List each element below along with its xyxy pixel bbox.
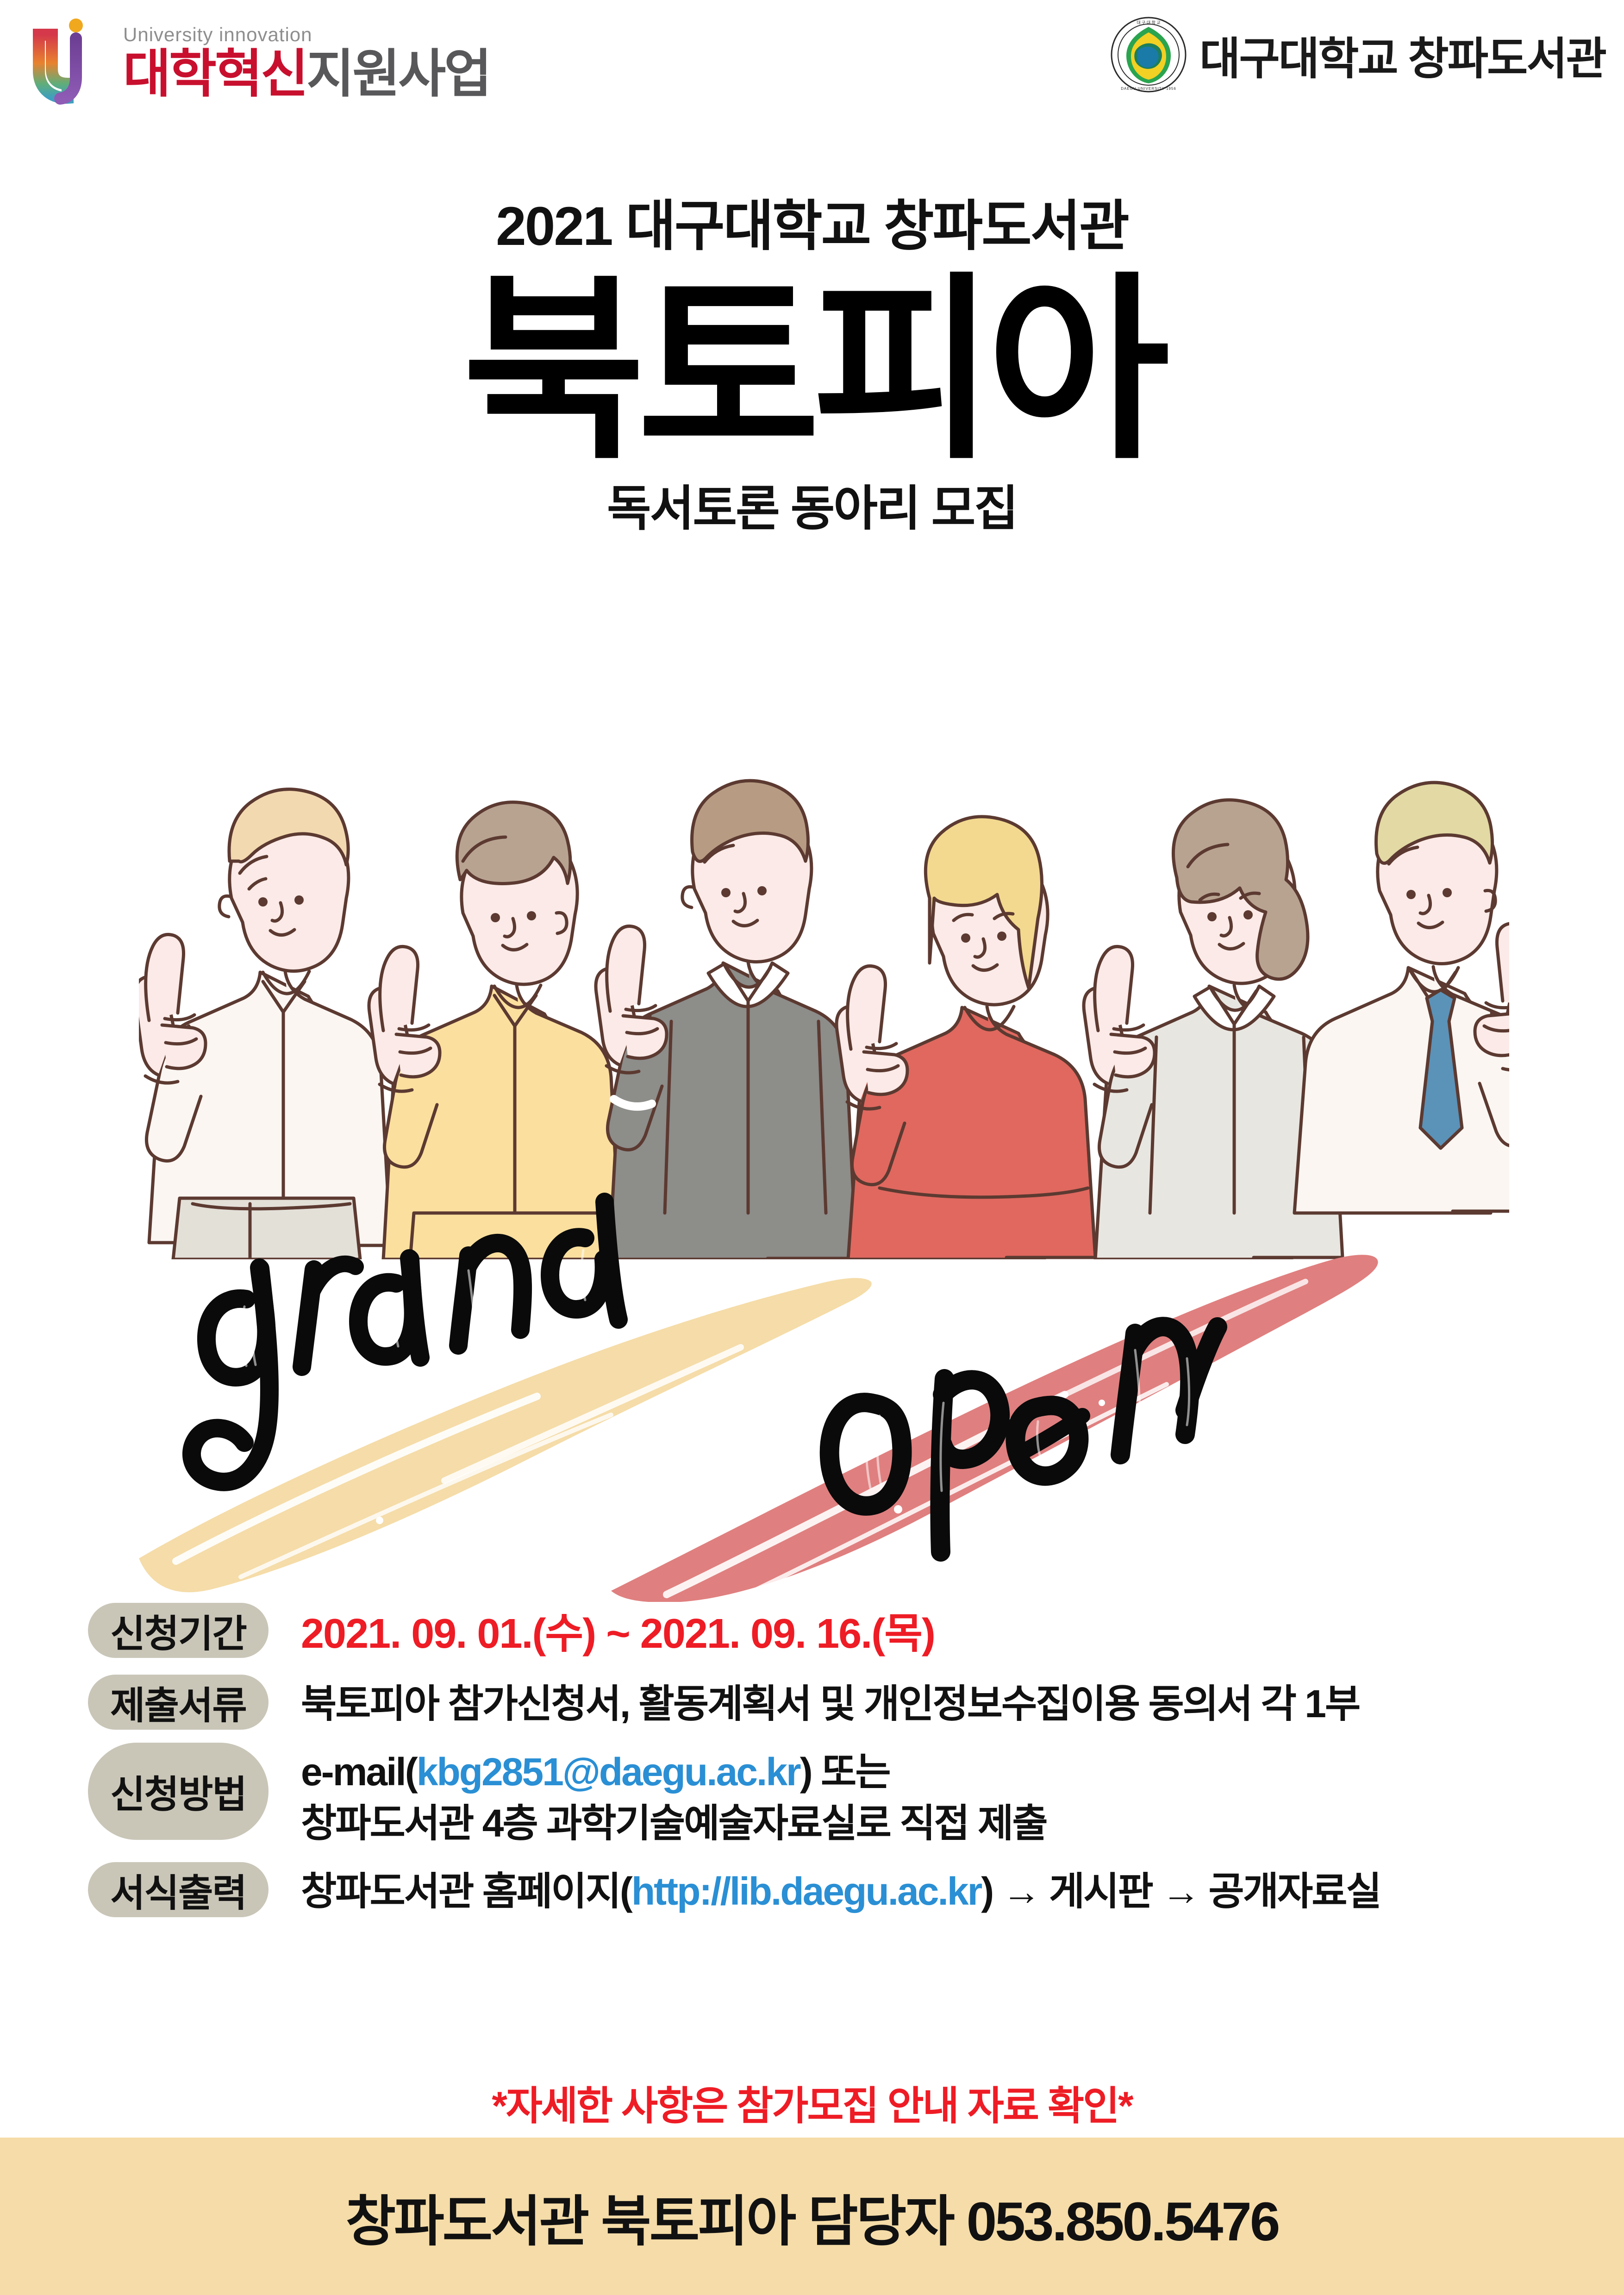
email-link[interactable]: kbg2851@daegu.ac.kr <box>417 1750 800 1794</box>
daegu-library-label: 대구대학교 창파도서관 <box>1199 23 1605 87</box>
info-value-application-method: e-mail(kbg2851@daegu.ac.kr) 또는 창파도서관 4층 … <box>269 1743 1583 1849</box>
info-row-application-method: 신청방법 e-mail(kbg2851@daegu.ac.kr) 또는 창파도서… <box>88 1743 1583 1849</box>
info-value-form-download: 창파도서관 홈페이지(http://lib.daegu.ac.kr) → 게시판… <box>269 1862 1583 1917</box>
homepage-link[interactable]: http://lib.daegu.ac.kr <box>631 1870 981 1913</box>
info-line: 북토피아 참가신청서, 활동계획서 및 개인정보수집이용 동의서 각 1부 <box>301 1678 1583 1730</box>
title-block: 2021 대구대학교 창파도서관 북토피아 독서토론 동아리 모집 <box>0 199 1624 533</box>
info-line: 창파도서관 홈페이지(http://lib.daegu.ac.kr) → 게시판… <box>301 1866 1583 1917</box>
daegu-library-logo: 대 구 대 학 교 DAEGU UNIVERSITY 1956 대구대학교 창파… <box>1110 13 1605 96</box>
ui-logo-korean-red: 대학혁신 <box>123 45 306 103</box>
info-text: ) → 게시판 → 공개자료실 <box>981 1870 1380 1913</box>
info-table: 신청기간 2021. 09. 01.(수) ~ 2021. 09. 16.(목)… <box>88 1603 1583 1930</box>
info-label-application-method: 신청방법 <box>88 1743 269 1840</box>
svg-text:DAEGU UNIVERSITY 1956: DAEGU UNIVERSITY 1956 <box>1121 87 1176 91</box>
ui-logo-english: University innovation <box>123 25 490 44</box>
svg-text:대 구 대 학 교: 대 구 대 학 교 <box>1137 20 1160 25</box>
info-label-required-documents: 제출서류 <box>88 1675 269 1730</box>
info-label-form-download: 서식출력 <box>88 1862 269 1917</box>
ui-logo-mark-icon <box>28 16 111 109</box>
poster-subtitle: 독서토론 동아리 모집 <box>0 485 1624 533</box>
poster-main-title: 북토피아 <box>0 269 1624 473</box>
info-value-required-documents: 북토피아 참가신청서, 활동계획서 및 개인정보수집이용 동의서 각 1부 <box>269 1675 1583 1730</box>
info-text: 창파도서관 홈페이지( <box>301 1870 631 1913</box>
ui-logo-korean: 대학혁신지원사업 <box>123 48 490 100</box>
info-row-application-period: 신청기간 2021. 09. 01.(수) ~ 2021. 09. 16.(목) <box>88 1603 1583 1662</box>
ui-logo-wordmark: University innovation 대학혁신지원사업 <box>123 25 490 100</box>
footer-bar: 창파도서관 북토피아 담당자 053.850.5476 <box>0 2138 1624 2295</box>
poster-canvas: University innovation 대학혁신지원사업 대 구 대 학 교… <box>0 0 1624 2295</box>
grand-open-brush-lettering <box>120 1185 1528 1602</box>
footer-contact-text: 창파도서관 북토피아 담당자 053.850.5476 <box>346 2177 1279 2256</box>
daegu-university-emblem-icon: 대 구 대 학 교 DAEGU UNIVERSITY 1956 <box>1110 16 1187 94</box>
ui-logo-korean-gray: 지원사업 <box>306 45 490 103</box>
info-label-application-period: 신청기간 <box>88 1603 269 1658</box>
university-innovation-logo: University innovation 대학혁신지원사업 <box>28 9 518 116</box>
info-line: 2021. 09. 01.(수) ~ 2021. 09. 16.(목) <box>301 1607 1583 1662</box>
info-row-form-download: 서식출력 창파도서관 홈페이지(http://lib.daegu.ac.kr) … <box>88 1862 1583 1917</box>
info-row-required-documents: 제출서류 북토피아 참가신청서, 활동계획서 및 개인정보수집이용 동의서 각 … <box>88 1675 1583 1730</box>
poster-eyebrow: 2021 대구대학교 창파도서관 <box>0 199 1624 254</box>
info-line: e-mail(kbg2851@daegu.ac.kr) 또는 <box>301 1746 1583 1798</box>
info-text: e-mail( <box>301 1750 417 1794</box>
people-thumbs-up-illustration <box>139 602 1509 1259</box>
info-line: 창파도서관 4층 과학기술예술자료실로 직접 제출 <box>301 1798 1583 1849</box>
notice-text: *자세한 사항은 참가모집 안내 자료 확인* <box>0 2073 1624 2131</box>
info-text: ) 또는 <box>800 1750 890 1794</box>
info-value-application-period: 2021. 09. 01.(수) ~ 2021. 09. 16.(목) <box>269 1603 1583 1662</box>
